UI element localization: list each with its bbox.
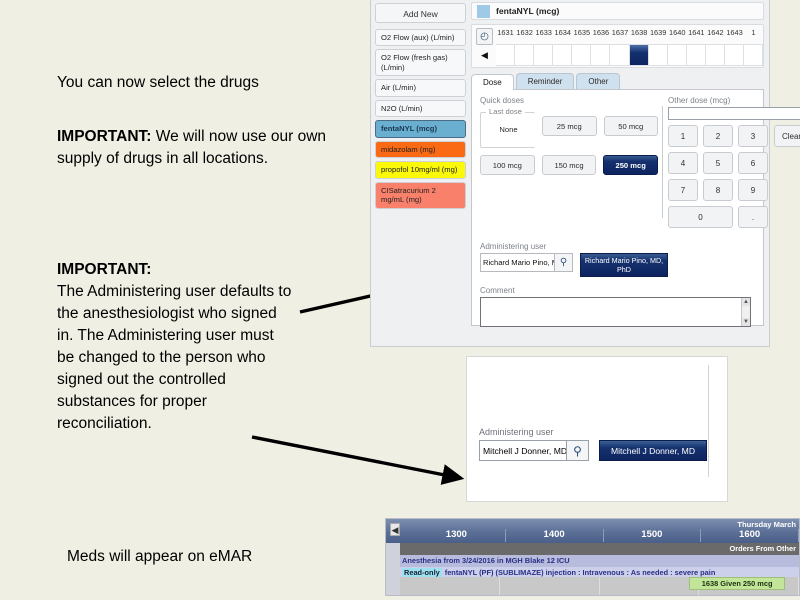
quick-doses-label: Quick doses [480, 96, 658, 105]
timeline-cell[interactable] [668, 44, 687, 66]
drug-item-midazolam[interactable]: midazolam (mg) [375, 141, 466, 158]
drug-item-propofol[interactable]: propofol 10mg/ml (mg) [375, 161, 466, 178]
timeline-label: 1632 [515, 28, 534, 42]
timeline-cell[interactable] [553, 44, 572, 66]
key-2[interactable]: 2 [703, 125, 733, 147]
timeline-cell[interactable] [649, 44, 668, 66]
tab-dose[interactable]: Dose [471, 74, 514, 90]
emar-cell [600, 577, 700, 595]
drug-item-fentanyl[interactable]: fentaNYL (mcg) [375, 120, 466, 137]
timeline-cell[interactable] [496, 44, 515, 66]
arrow-to-panel-b [252, 437, 460, 478]
dose-button-50[interactable]: 50 mcg [604, 116, 659, 136]
narration-own-supply-prefix: IMPORTANT: [57, 128, 151, 145]
timeline: ◴ ◀ 1631 1632 1633 1634 1635 1636 1637 1… [471, 24, 764, 68]
panel-b-administering-section: Administering user Mitchell J Donner, MD… [479, 427, 707, 461]
administering-user-input[interactable]: Richard Mario Pino, M [480, 253, 555, 272]
vertical-divider [662, 106, 663, 218]
key-1[interactable]: 1 [668, 125, 698, 147]
tab-other[interactable]: Other [576, 73, 620, 89]
timeline-label: 1633 [534, 28, 553, 42]
comment-textarea[interactable]: ▲ ▼ [480, 297, 751, 327]
timeline-cell[interactable] [687, 44, 706, 66]
timeline-cell-selected[interactable] [630, 44, 649, 66]
timeline-cell[interactable] [534, 44, 553, 66]
prev-arrow-icon[interactable]: ◀ [476, 47, 493, 64]
numeric-keypad: 1 2 3 4 5 6 7 8 9 0 . Clear [668, 125, 800, 228]
narration-select-drugs-text: You can now select the drugs [57, 74, 259, 91]
emar-administration-track: 1638 Given 250 mcg [400, 577, 799, 595]
panel-b-divider [708, 365, 709, 477]
detail-tabs: Dose Reminder Other [471, 72, 764, 90]
narration-administering-prefix: IMPORTANT: [57, 261, 151, 278]
emar-cell [400, 577, 500, 595]
timeline-label: 1641 [687, 28, 706, 42]
scroll-up-icon[interactable]: ▲ [742, 298, 750, 306]
emar-hour: 1500 [604, 529, 702, 542]
timeline-label: 1642 [706, 28, 725, 42]
administering-user-label: Administering user [480, 242, 730, 251]
emar-given-entry[interactable]: 1638 Given 250 mcg [689, 577, 785, 590]
slide-canvas: You can now select the drugs IMPORTANT: … [0, 0, 800, 600]
selected-med-header: fentaNYL (mcg) [471, 2, 764, 20]
tab-reminder[interactable]: Reminder [516, 73, 575, 89]
emar-left-gutter [386, 543, 400, 595]
last-dose-fieldset: Last dose None [480, 112, 535, 148]
narration-administering-text: The Administering user defaults to the a… [57, 283, 291, 432]
panel-b-administering-input[interactable]: Mitchell J Donner, MD [479, 440, 567, 461]
clear-button[interactable]: Clear [774, 125, 800, 147]
administering-user-section: Administering user Richard Mario Pino, M… [480, 242, 730, 277]
timeline-label: 1643 [725, 28, 744, 42]
clock-icon[interactable]: ◴ [476, 28, 493, 45]
key-9[interactable]: 9 [738, 179, 768, 201]
emar-cell [500, 577, 600, 595]
key-6[interactable]: 6 [738, 152, 768, 174]
comment-scrollbar[interactable]: ▲ ▼ [741, 298, 750, 326]
timeline-label: 1 [744, 28, 763, 42]
timeline-cell[interactable] [744, 44, 763, 66]
narration-administering-user: IMPORTANT: The Administering user defaul… [57, 259, 293, 435]
timeline-cell[interactable] [591, 44, 610, 66]
dose-button-25[interactable]: 25 mcg [542, 116, 597, 136]
timeline-cell[interactable] [706, 44, 725, 66]
timeline-label: 1640 [668, 28, 687, 42]
narration-emar-text: Meds will appear on eMAR [67, 548, 252, 565]
timeline-labels: 1631 1632 1633 1634 1635 1636 1637 1638 … [496, 28, 763, 42]
timeline-label: 1638 [630, 28, 649, 42]
emar-hour: 1400 [506, 529, 604, 542]
drug-item-o2-aux[interactable]: O2 Flow (aux) (L/min) [375, 29, 466, 46]
dose-button-250-selected[interactable]: 250 mcg [603, 155, 658, 175]
timeline-label: 1636 [591, 28, 610, 42]
other-dose-input[interactable]: 250 [668, 107, 800, 120]
scroll-down-icon[interactable]: ▼ [742, 318, 750, 326]
key-decimal[interactable]: . [738, 206, 768, 228]
emar-header: ◀ Thursday March 1300 1400 1500 1600 [386, 519, 799, 543]
administering-user-chip[interactable]: Richard Mario Pino, MD, PhD [580, 253, 668, 277]
timeline-label: 1635 [572, 28, 591, 42]
key-3[interactable]: 3 [738, 125, 768, 147]
timeline-label: 1639 [649, 28, 668, 42]
timeline-label: 1637 [610, 28, 629, 42]
timeline-label: 1634 [553, 28, 572, 42]
timeline-cell[interactable] [610, 44, 629, 66]
dose-tab-body: Quick doses Last dose None 25 mcg 50 mcg… [471, 90, 764, 326]
key-4[interactable]: 4 [668, 152, 698, 174]
med-detail-pane: fentaNYL (mcg) ◴ ◀ 1631 1632 1633 1634 1… [469, 0, 768, 345]
dose-button-150[interactable]: 150 mcg [542, 155, 597, 175]
emar-order-text: fentaNYL (PF) (SUBLIMAZE) injection : In… [445, 568, 716, 577]
emar-panel: ◀ Thursday March 1300 1400 1500 1600 Ord… [385, 518, 800, 596]
key-0[interactable]: 0 [668, 206, 733, 228]
drug-item-cisatracurium[interactable]: CISatracurium 2 mg/mL (mg) [375, 182, 466, 209]
timeline-cell[interactable] [572, 44, 591, 66]
panel-b-user-chip[interactable]: Mitchell J Donner, MD [599, 440, 707, 461]
other-dose-section: Other dose (mcg) 250 1 2 3 4 5 6 7 [668, 96, 800, 228]
emar-prev-icon[interactable]: ◀ [390, 523, 400, 536]
emar-anesthesia-row: Anesthesia from 3/24/2016 in MGH Blake 1… [386, 555, 799, 567]
dose-button-100[interactable]: 100 mcg [480, 155, 535, 175]
drug-list: Add New O2 Flow (aux) (L/min) O2 Flow (f… [372, 1, 469, 345]
drug-item-air[interactable]: Air (L/min) [375, 79, 466, 96]
drug-item-n2o[interactable]: N2O (L/min) [375, 100, 466, 117]
last-dose-value[interactable]: None [481, 113, 536, 147]
panel-b-administering-label: Administering user [479, 427, 707, 437]
narration-emar: Meds will appear on eMAR [67, 546, 357, 568]
timeline-cell[interactable] [515, 44, 534, 66]
emar-hour: 1300 [408, 529, 506, 542]
emar-day-label: Thursday March [737, 520, 796, 529]
drug-item-o2-fresh-gas[interactable]: O2 Flow (fresh gas) (L/min) [375, 49, 466, 76]
anesthesia-record-panel: Add New O2 Flow (aux) (L/min) O2 Flow (f… [370, 0, 770, 347]
quick-doses-section: Quick doses Last dose None 25 mcg 50 mcg… [480, 96, 658, 182]
key-5[interactable]: 5 [703, 152, 733, 174]
timeline-cell[interactable] [725, 44, 744, 66]
emar-orders-from-other: Orders From Other [386, 543, 799, 555]
last-dose-legend: Last dose [486, 107, 525, 116]
read-only-badge: Read-only [402, 568, 442, 577]
administering-user-detail-panel: Administering user Mitchell J Donner, MD… [466, 356, 728, 502]
other-dose-label: Other dose (mcg) [668, 96, 800, 105]
magnifier-icon[interactable]: ⚲ [567, 440, 589, 461]
comment-section: Comment ▲ ▼ [480, 286, 751, 327]
magnifier-icon[interactable]: ⚲ [555, 253, 573, 272]
med-color-swatch [477, 5, 490, 18]
key-8[interactable]: 8 [703, 179, 733, 201]
comment-label: Comment [480, 286, 751, 295]
narration-select-drugs: You can now select the drugs [57, 72, 357, 94]
timeline-label: 1631 [496, 28, 515, 42]
add-new-button[interactable]: Add New [375, 3, 466, 23]
selected-med-name: fentaNYL (mcg) [496, 6, 559, 16]
key-7[interactable]: 7 [668, 179, 698, 201]
emar-hour: 1600 [701, 529, 799, 542]
keypad-digits: 1 2 3 4 5 6 7 8 9 0 . [668, 125, 768, 228]
timeline-cells [496, 44, 763, 66]
narration-own-supply: IMPORTANT: We will now use our own suppl… [57, 126, 357, 170]
emar-hour-labels: 1300 1400 1500 1600 [408, 529, 799, 542]
